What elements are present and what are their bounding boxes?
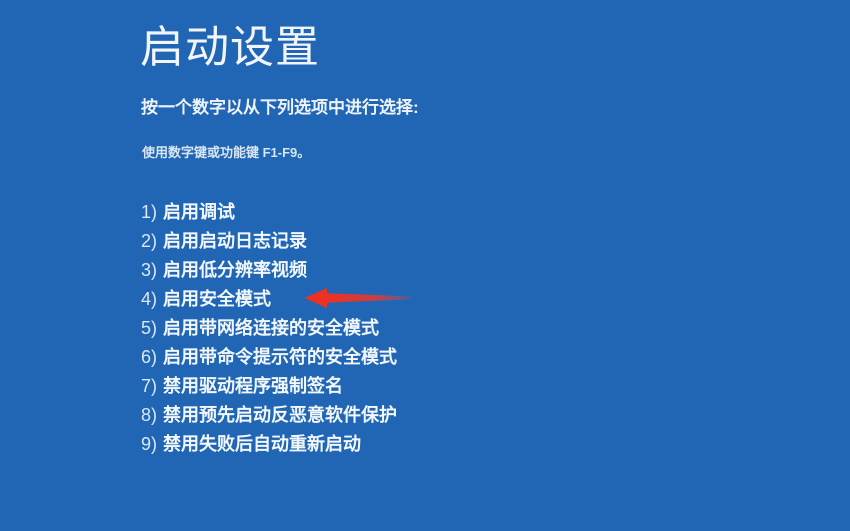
option-item-3[interactable]: 3)启用低分辨率视频 [141,256,741,285]
option-key-8: 8) [141,405,157,425]
option-key-3: 3) [141,260,157,280]
option-key-9: 9) [141,434,157,454]
option-label-7: 禁用驱动程序强制签名 [163,376,343,396]
option-label-6: 启用带命令提示符的安全模式 [163,347,397,367]
startup-options-list: 1)启用调试 2)启用启动日志记录 3)启用低分辨率视频 4)启用安全模式 5)… [141,198,741,459]
option-item-6[interactable]: 6)启用带命令提示符的安全模式 [141,343,741,372]
option-key-5: 5) [141,318,157,338]
option-item-1[interactable]: 1)启用调试 [141,198,741,227]
option-key-4: 4) [141,289,157,309]
option-item-5[interactable]: 5)启用带网络连接的安全模式 [141,314,741,343]
option-item-2[interactable]: 2)启用启动日志记录 [141,227,741,256]
instruction-text: 按一个数字以从下列选项中进行选择: [141,96,419,120]
option-item-8[interactable]: 8)禁用预先启动反恶意软件保护 [141,401,741,430]
option-label-5: 启用带网络连接的安全模式 [163,318,379,338]
option-key-6: 6) [141,347,157,367]
option-label-1: 启用调试 [163,202,235,222]
option-key-7: 7) [141,376,157,396]
option-item-9[interactable]: 9)禁用失败后自动重新启动 [141,430,741,459]
option-item-7[interactable]: 7)禁用驱动程序强制签名 [141,372,741,401]
option-label-8: 禁用预先启动反恶意软件保护 [163,405,397,425]
option-label-4: 启用安全模式 [163,289,271,309]
page-title: 启动设置 [140,22,320,74]
option-key-2: 2) [141,231,157,251]
option-label-2: 启用启动日志记录 [163,231,307,251]
option-label-3: 启用低分辨率视频 [163,260,307,280]
keyboard-hint-text: 使用数字键或功能键 F1-F9。 [142,143,310,162]
option-label-9: 禁用失败后自动重新启动 [163,434,361,454]
option-item-4[interactable]: 4)启用安全模式 [141,285,741,314]
option-key-1: 1) [141,202,157,222]
startup-settings-screen: 启动设置 按一个数字以从下列选项中进行选择: 使用数字键或功能键 F1-F9。 … [0,0,850,531]
